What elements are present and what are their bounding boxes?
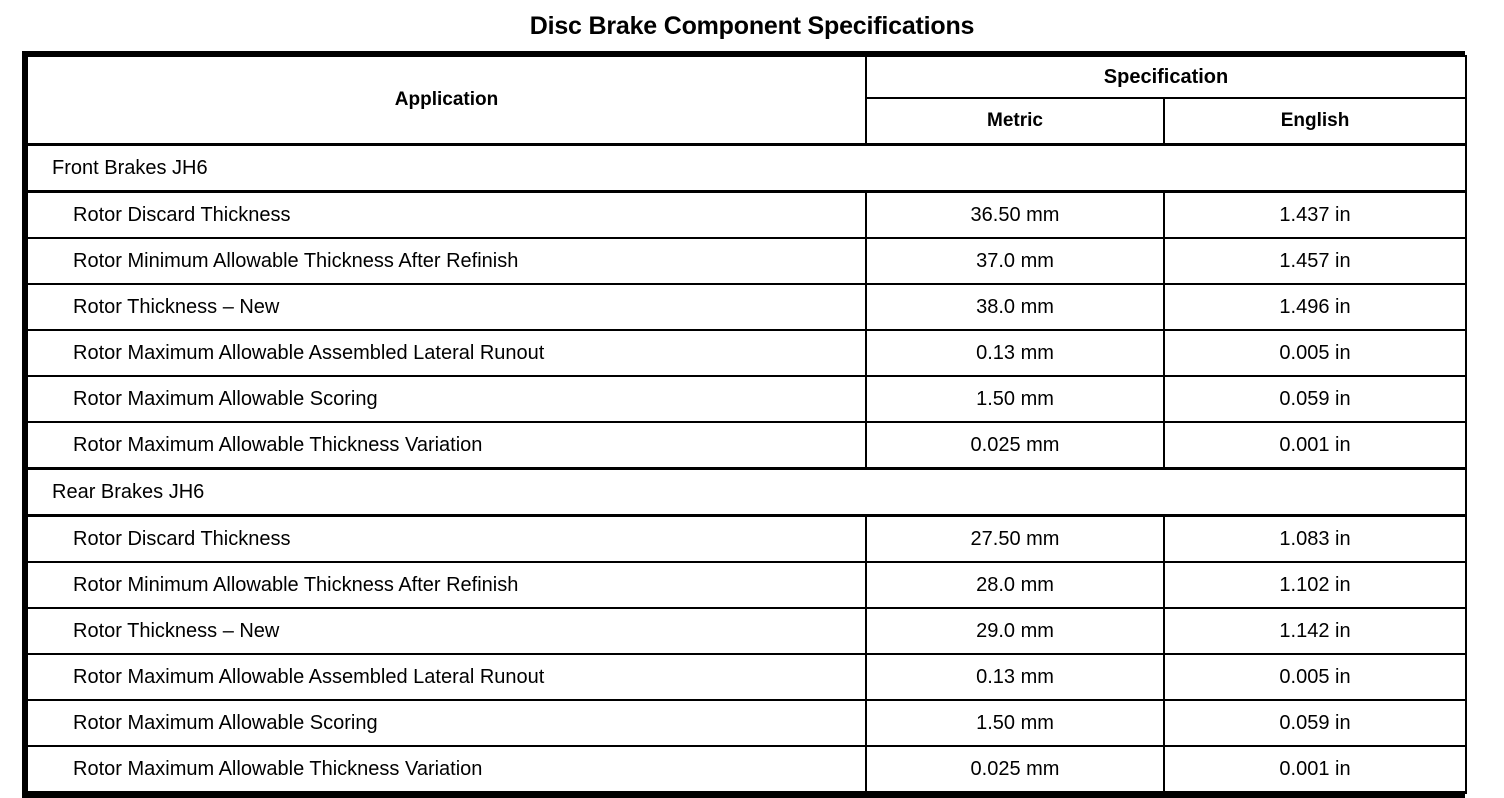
cell-english: 1.142 in (1164, 608, 1466, 654)
table-row: Rotor Maximum Allowable Assembled Latera… (27, 654, 1466, 700)
table-row: Rotor Maximum Allowable Thickness Variat… (27, 746, 1466, 793)
cell-application: Rotor Maximum Allowable Assembled Latera… (27, 330, 866, 376)
column-header-english: English (1164, 98, 1466, 145)
cell-english: 0.005 in (1164, 654, 1466, 700)
table-row: Rotor Maximum Allowable Thickness Variat… (27, 422, 1466, 469)
cell-application: Rotor Maximum Allowable Thickness Variat… (27, 746, 866, 793)
page-root: Disc Brake Component Specifications Appl… (0, 0, 1504, 768)
column-header-specification: Specification (866, 56, 1466, 98)
cell-english: 1.102 in (1164, 562, 1466, 608)
table-body: Front Brakes JH6Rotor Discard Thickness3… (27, 145, 1466, 793)
cell-metric: 0.13 mm (866, 654, 1164, 700)
cell-application: Rotor Thickness – New (27, 608, 866, 654)
table-row: Rotor Maximum Allowable Scoring1.50 mm0.… (27, 376, 1466, 422)
column-header-metric: Metric (866, 98, 1164, 145)
cell-application: Rotor Maximum Allowable Scoring (27, 700, 866, 746)
cell-metric: 38.0 mm (866, 284, 1164, 330)
table-row: Rotor Maximum Allowable Assembled Latera… (27, 330, 1466, 376)
section-header-row: Front Brakes JH6 (27, 145, 1466, 192)
section-header-label: Front Brakes JH6 (27, 145, 1466, 192)
table-row: Rotor Thickness – New29.0 mm1.142 in (27, 608, 1466, 654)
table-row: Rotor Discard Thickness36.50 mm1.437 in (27, 192, 1466, 239)
cell-metric: 0.13 mm (866, 330, 1164, 376)
cell-english: 0.001 in (1164, 746, 1466, 793)
cell-english: 1.457 in (1164, 238, 1466, 284)
cell-application: Rotor Maximum Allowable Thickness Variat… (27, 422, 866, 469)
cell-english: 0.001 in (1164, 422, 1466, 469)
cell-metric: 0.025 mm (866, 422, 1164, 469)
cell-english: 0.059 in (1164, 700, 1466, 746)
cell-english: 0.005 in (1164, 330, 1466, 376)
spec-table: Application Specification Metric English… (26, 55, 1467, 794)
cell-metric: 0.025 mm (866, 746, 1164, 793)
cell-metric: 1.50 mm (866, 376, 1164, 422)
section-header-row: Rear Brakes JH6 (27, 469, 1466, 516)
spec-table-container: Application Specification Metric English… (22, 51, 1465, 798)
table-row: Rotor Thickness – New38.0 mm1.496 in (27, 284, 1466, 330)
column-header-application: Application (27, 56, 866, 145)
table-row: Rotor Discard Thickness27.50 mm1.083 in (27, 516, 1466, 563)
table-row: Rotor Maximum Allowable Scoring1.50 mm0.… (27, 700, 1466, 746)
cell-application: Rotor Discard Thickness (27, 192, 866, 239)
cell-metric: 36.50 mm (866, 192, 1164, 239)
table-head: Application Specification Metric English (27, 56, 1466, 145)
cell-application: Rotor Maximum Allowable Scoring (27, 376, 866, 422)
page-title: Disc Brake Component Specifications (0, 11, 1504, 41)
cell-english: 0.059 in (1164, 376, 1466, 422)
table-row: Rotor Minimum Allowable Thickness After … (27, 238, 1466, 284)
header-row-top: Application Specification (27, 56, 1466, 98)
cell-application: Rotor Discard Thickness (27, 516, 866, 563)
cell-application: Rotor Thickness – New (27, 284, 866, 330)
table-row: Rotor Minimum Allowable Thickness After … (27, 562, 1466, 608)
cell-application: Rotor Maximum Allowable Assembled Latera… (27, 654, 866, 700)
cell-application: Rotor Minimum Allowable Thickness After … (27, 562, 866, 608)
cell-metric: 27.50 mm (866, 516, 1164, 563)
cell-metric: 37.0 mm (866, 238, 1164, 284)
cell-metric: 29.0 mm (866, 608, 1164, 654)
section-header-label: Rear Brakes JH6 (27, 469, 1466, 516)
cell-english: 1.437 in (1164, 192, 1466, 239)
cell-metric: 1.50 mm (866, 700, 1164, 746)
cell-english: 1.083 in (1164, 516, 1466, 563)
cell-metric: 28.0 mm (866, 562, 1164, 608)
cell-application: Rotor Minimum Allowable Thickness After … (27, 238, 866, 284)
cell-english: 1.496 in (1164, 284, 1466, 330)
